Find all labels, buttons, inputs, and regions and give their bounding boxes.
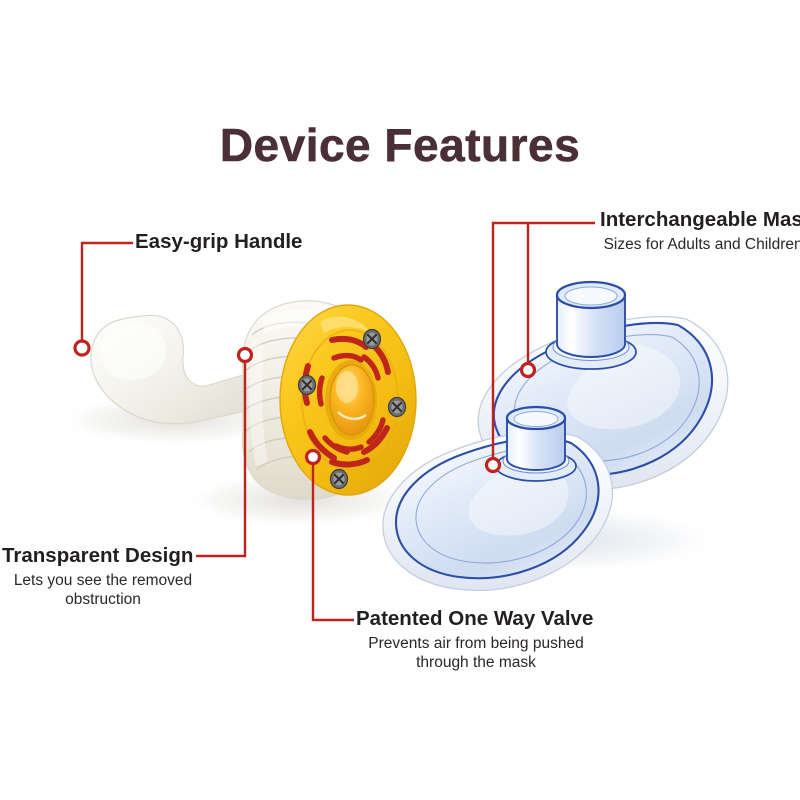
- page-title: Device Features: [0, 118, 800, 172]
- callout-patented-one-way-valve: Patented One Way Valve Prevents air from…: [356, 608, 596, 672]
- callout-heading: Interchangeable Mask: [600, 209, 800, 232]
- callout-heading: Transparent Design: [0, 545, 206, 568]
- valve-faceplate: [280, 305, 416, 495]
- callout-subtext: Sizes for Adults and Children: [600, 235, 800, 254]
- callout-transparent-design: Transparent Design Lets you see the remo…: [0, 545, 206, 609]
- callout-easy-grip-handle: Easy-grip Handle: [135, 231, 302, 254]
- device-features-infographic: Device Features Easy-grip Handle Interch…: [0, 0, 800, 800]
- callout-subtext-line-1: Prevents air from being pushed: [356, 634, 596, 653]
- callout-heading: Patented One Way Valve: [356, 608, 596, 631]
- callout-subtext-line-1: Lets you see the removed: [0, 571, 206, 590]
- callout-subtext-line-2: through the mask: [356, 653, 596, 672]
- callout-interchangeable-mask: Interchangeable Mask Sizes for Adults an…: [600, 209, 800, 254]
- callout-subtext-line-2: obstruction: [0, 590, 206, 609]
- callout-heading: Easy-grip Handle: [135, 231, 302, 254]
